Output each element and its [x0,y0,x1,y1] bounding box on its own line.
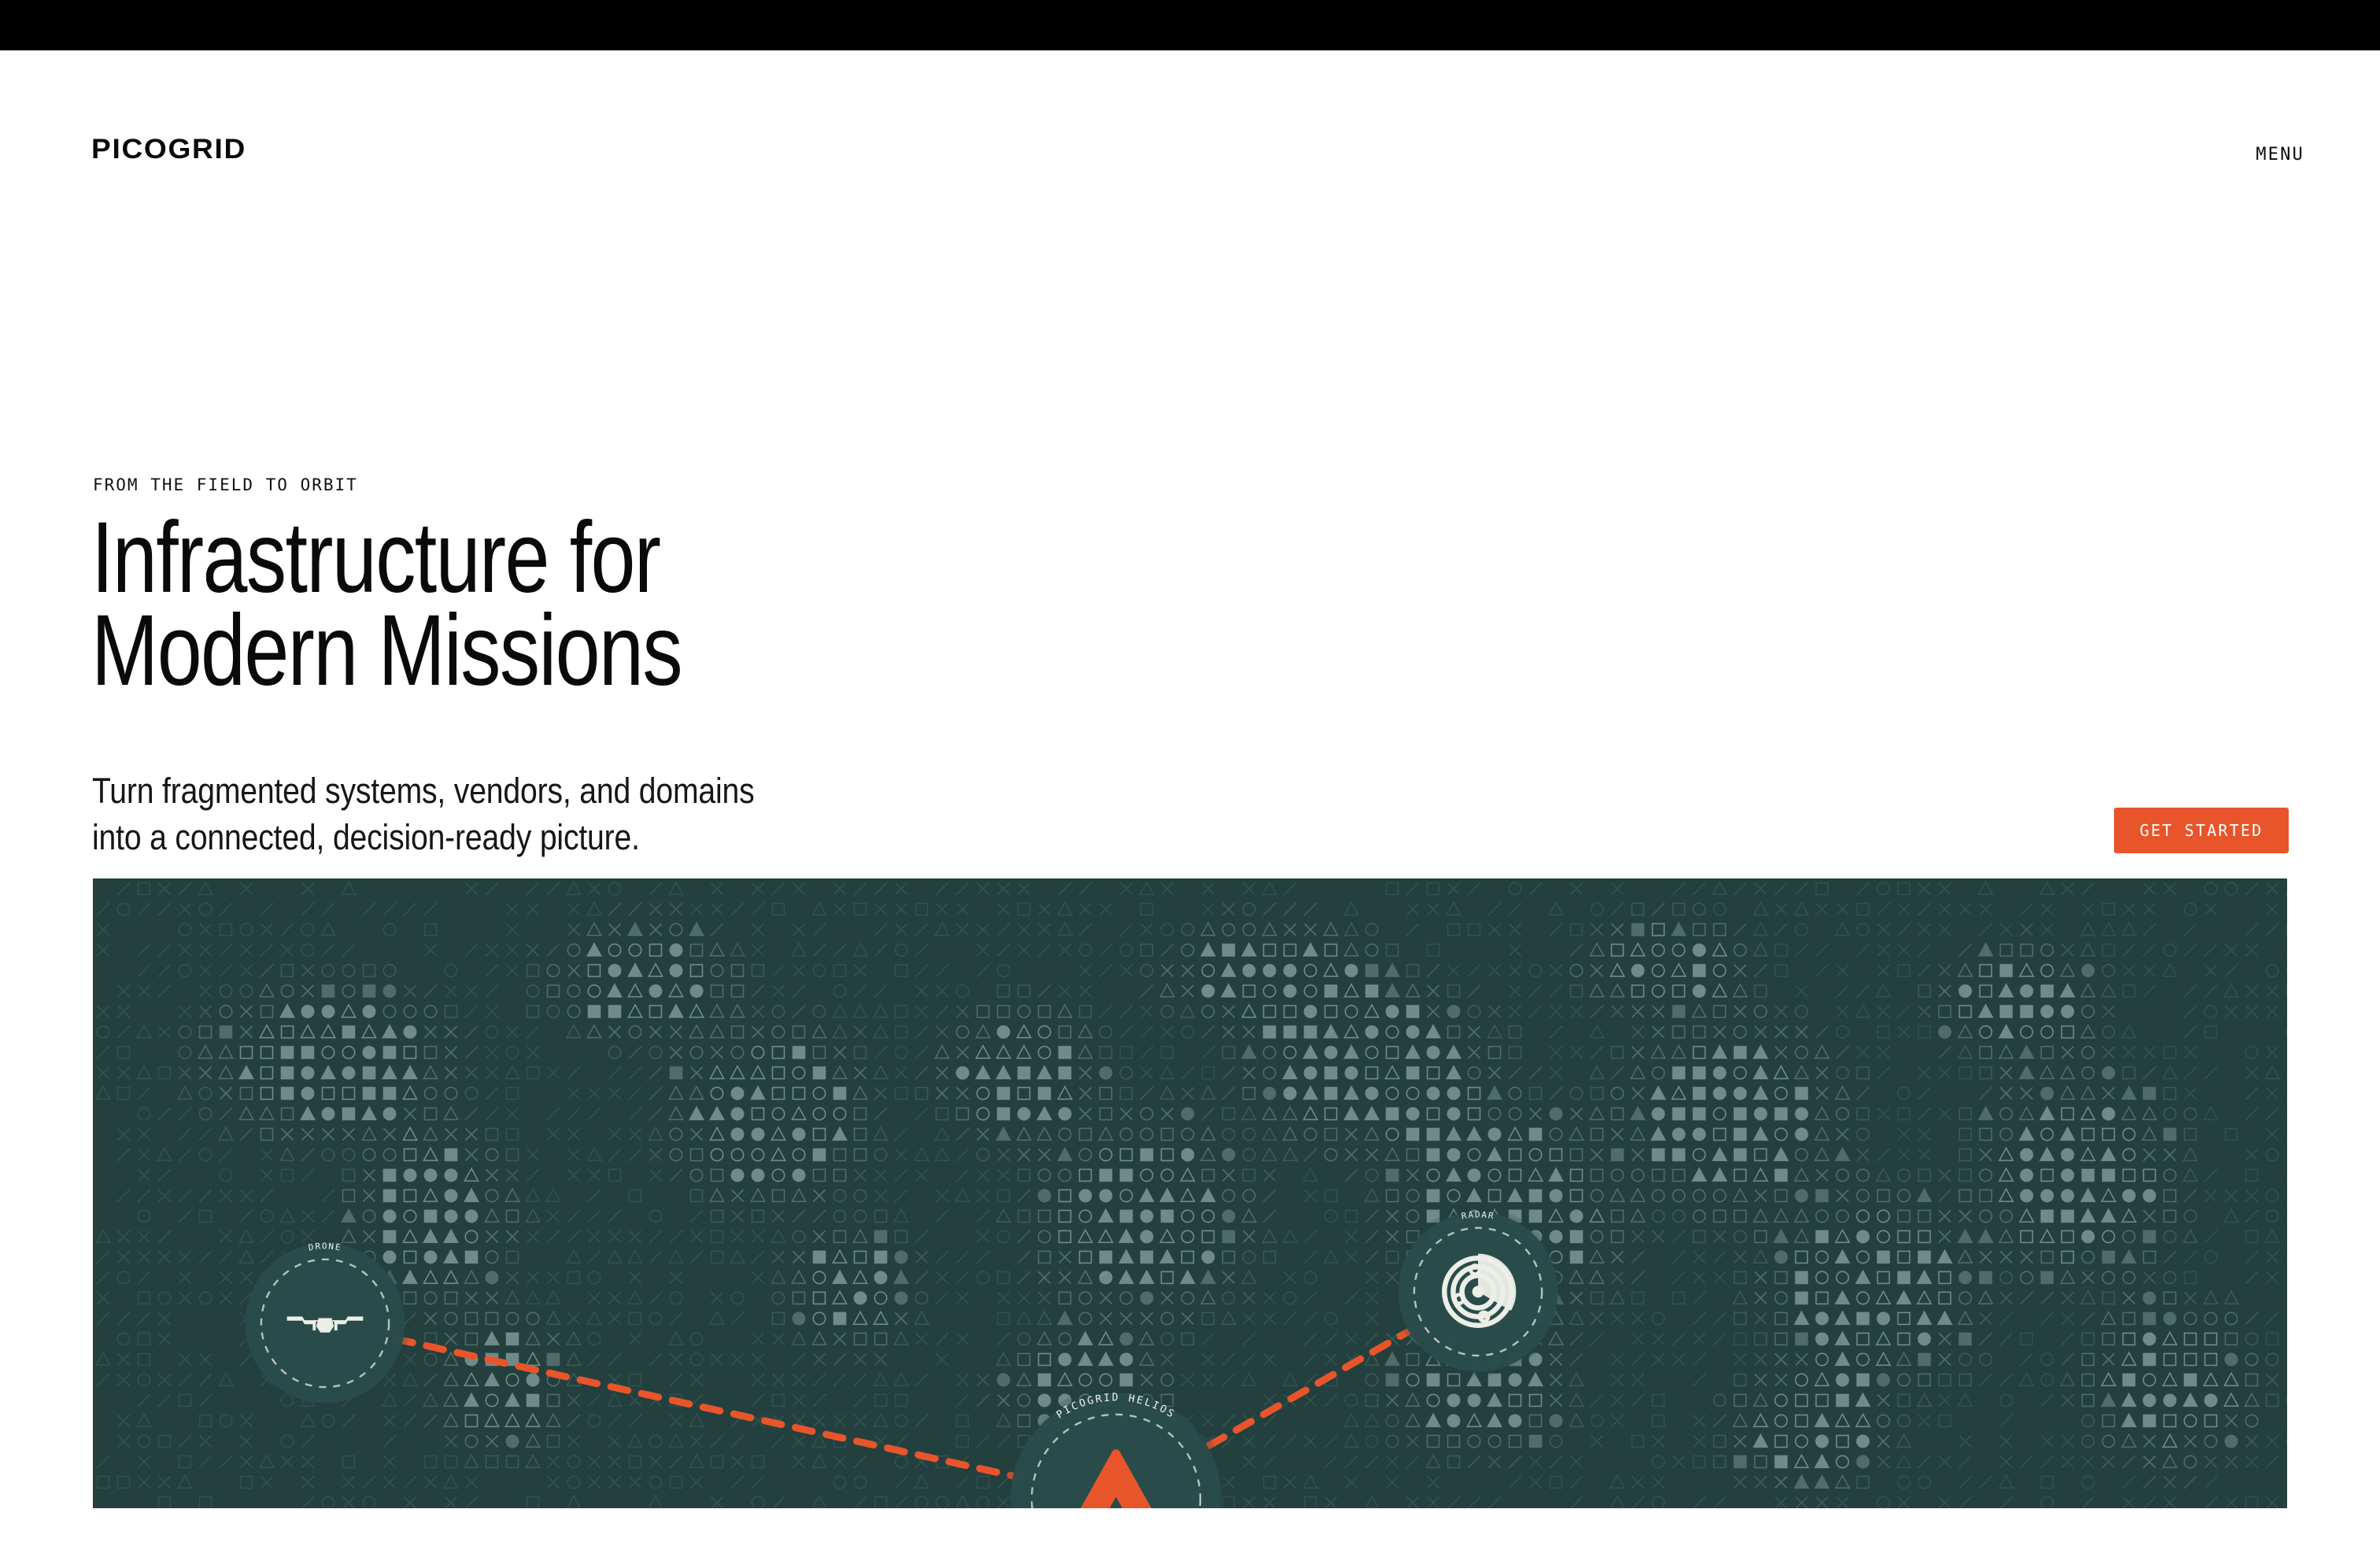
menu-button[interactable]: MENU [2256,146,2304,164]
hero-eyebrow: FROM THE FIELD TO ORBIT [93,477,358,494]
get-started-button[interactable]: GET STARTED [2114,808,2289,853]
site-header: PICOGRID MENU [0,50,2380,145]
network-diagram-svg: DRONERADARPICOGRID HELIOSSURVEILLANCE TO… [93,878,2287,1508]
node-label: DRONE [308,1241,342,1253]
headline-line-2: Modern Missions [91,605,910,697]
get-started-label: GET STARTED [2140,823,2264,838]
subhead-line-1: Turn fragmented systems, vendors, and do… [92,767,845,814]
page-title: Infrastructure for Modern Missions [91,512,910,697]
hero-network-diagram: DRONERADARPICOGRID HELIOSSURVEILLANCE TO… [93,878,2287,1508]
hero-subheading: Turn fragmented systems, vendors, and do… [92,767,845,861]
node-label: RADAR [1461,1210,1495,1222]
subhead-line-2: into a connected, decision-ready picture… [92,814,845,860]
diagram-node-radar[interactable]: RADAR [1393,1207,1562,1376]
diagram-node-drone[interactable]: DRONE [240,1238,409,1407]
picogrid-logo[interactable]: PICOGRID [91,135,246,163]
top-black-bar [0,0,2380,50]
headline-line-1: Infrastructure for [91,512,910,605]
